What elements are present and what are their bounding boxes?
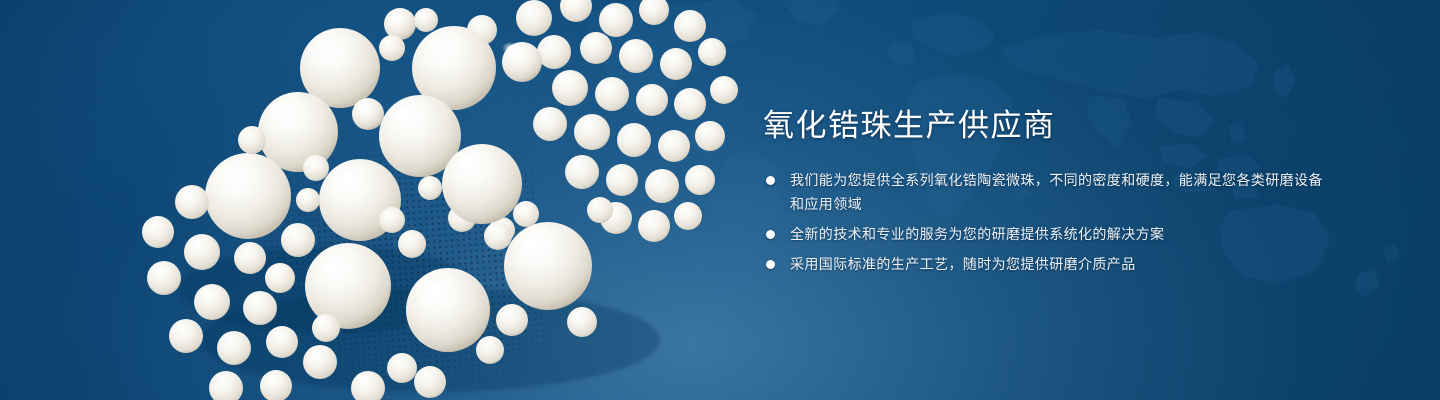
list-item-label: 采用国际标准的生产工艺，随时为您提供研磨介质产品 [790,252,1323,276]
hero-banner: 氧化锆珠生产供应商 我们能为您提供全系列氧化锆陶瓷微珠，不同的密度和硬度，能满足… [0,0,1440,400]
list-item-label: 全新的技术和专业的服务为您的研磨提供系统化的解决方案 [790,222,1323,246]
banner-copy: 氧化锆珠生产供应商 我们能为您提供全系列氧化锆陶瓷微珠，不同的密度和硬度，能满足… [763,106,1323,276]
bullet-dot-icon [766,260,775,269]
bullet-dot-icon [766,176,775,185]
page-title: 氧化锆珠生产供应商 [763,106,1323,146]
bullet-dot-icon [766,230,775,239]
list-item: 我们能为您提供全系列氧化锆陶瓷微珠，不同的密度和硬度，能满足您各类研磨设备和应用… [763,168,1323,216]
feature-list: 我们能为您提供全系列氧化锆陶瓷微珠，不同的密度和硬度，能满足您各类研磨设备和应用… [763,168,1323,276]
list-item-label: 我们能为您提供全系列氧化锆陶瓷微珠，不同的密度和硬度，能满足您各类研磨设备和应用… [790,168,1323,216]
list-item: 全新的技术和专业的服务为您的研磨提供系统化的解决方案 [763,222,1323,246]
list-item: 采用国际标准的生产工艺，随时为您提供研磨介质产品 [763,252,1323,276]
